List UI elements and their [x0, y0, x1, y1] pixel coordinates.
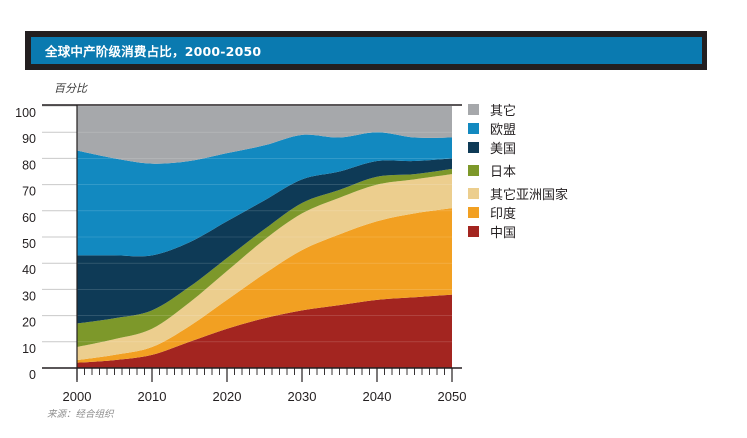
legend-swatch-icon	[468, 104, 479, 115]
source-note: 来源：经合组织	[47, 406, 114, 420]
legend-item-label: 美国	[490, 138, 516, 157]
y-axis-tick-label: 40	[22, 263, 36, 277]
x-axis-tick-label: 2000	[63, 389, 92, 404]
y-axis-tick-label: 70	[22, 185, 36, 199]
x-axis-tick-label: 2030	[288, 389, 317, 404]
legend-item-label: 日本	[490, 161, 516, 180]
legend-swatch-icon	[468, 188, 479, 199]
legend-item[interactable]: 欧盟	[468, 119, 648, 138]
x-axis-tick-label: 2040	[363, 389, 392, 404]
y-axis-tick-label: 90	[22, 132, 36, 146]
y-axis-tick-label: 30	[22, 289, 36, 303]
legend-item[interactable]: 其它亚洲国家	[468, 184, 648, 203]
legend-swatch-icon	[468, 165, 479, 176]
legend-item[interactable]: 日本	[468, 161, 648, 180]
legend-swatch-icon	[468, 226, 479, 237]
legend-item-label: 其它亚洲国家	[490, 184, 568, 203]
legend-swatch-icon	[468, 207, 479, 218]
y-axis-tick-label: 80	[22, 158, 36, 172]
legend-item[interactable]: 印度	[468, 203, 648, 222]
legend-item[interactable]: 中国	[468, 222, 648, 241]
legend-item-label: 欧盟	[490, 119, 516, 138]
chart-page: 全球中产阶级消费占比，2000-2050 百分比 010203040506070…	[0, 0, 747, 438]
legend-swatch-icon	[468, 142, 479, 153]
legend-item[interactable]: 其它	[468, 100, 648, 119]
x-axis-tick-label: 2010	[138, 389, 167, 404]
y-axis-tick-label: 0	[29, 368, 36, 382]
y-axis-tick-label: 50	[22, 237, 36, 251]
grid-lines	[42, 106, 77, 368]
y-axis-tick-label: 100	[15, 106, 36, 120]
y-axis-tick-label: 60	[22, 211, 36, 225]
legend-swatch-icon	[468, 123, 479, 134]
legend-item[interactable]: 美国	[468, 138, 648, 157]
legend-item-label: 其它	[490, 100, 516, 119]
legend-item-label: 印度	[490, 203, 516, 222]
x-axis-tick-label: 2050	[438, 389, 467, 404]
y-axis-tick-label: 20	[22, 316, 36, 330]
legend-item-label: 中国	[490, 222, 516, 241]
chart-legend: 其它欧盟美国日本其它亚洲国家印度中国	[468, 100, 648, 241]
y-axis-tick-label: 10	[22, 342, 36, 356]
x-axis-tick-label: 2020	[213, 389, 242, 404]
